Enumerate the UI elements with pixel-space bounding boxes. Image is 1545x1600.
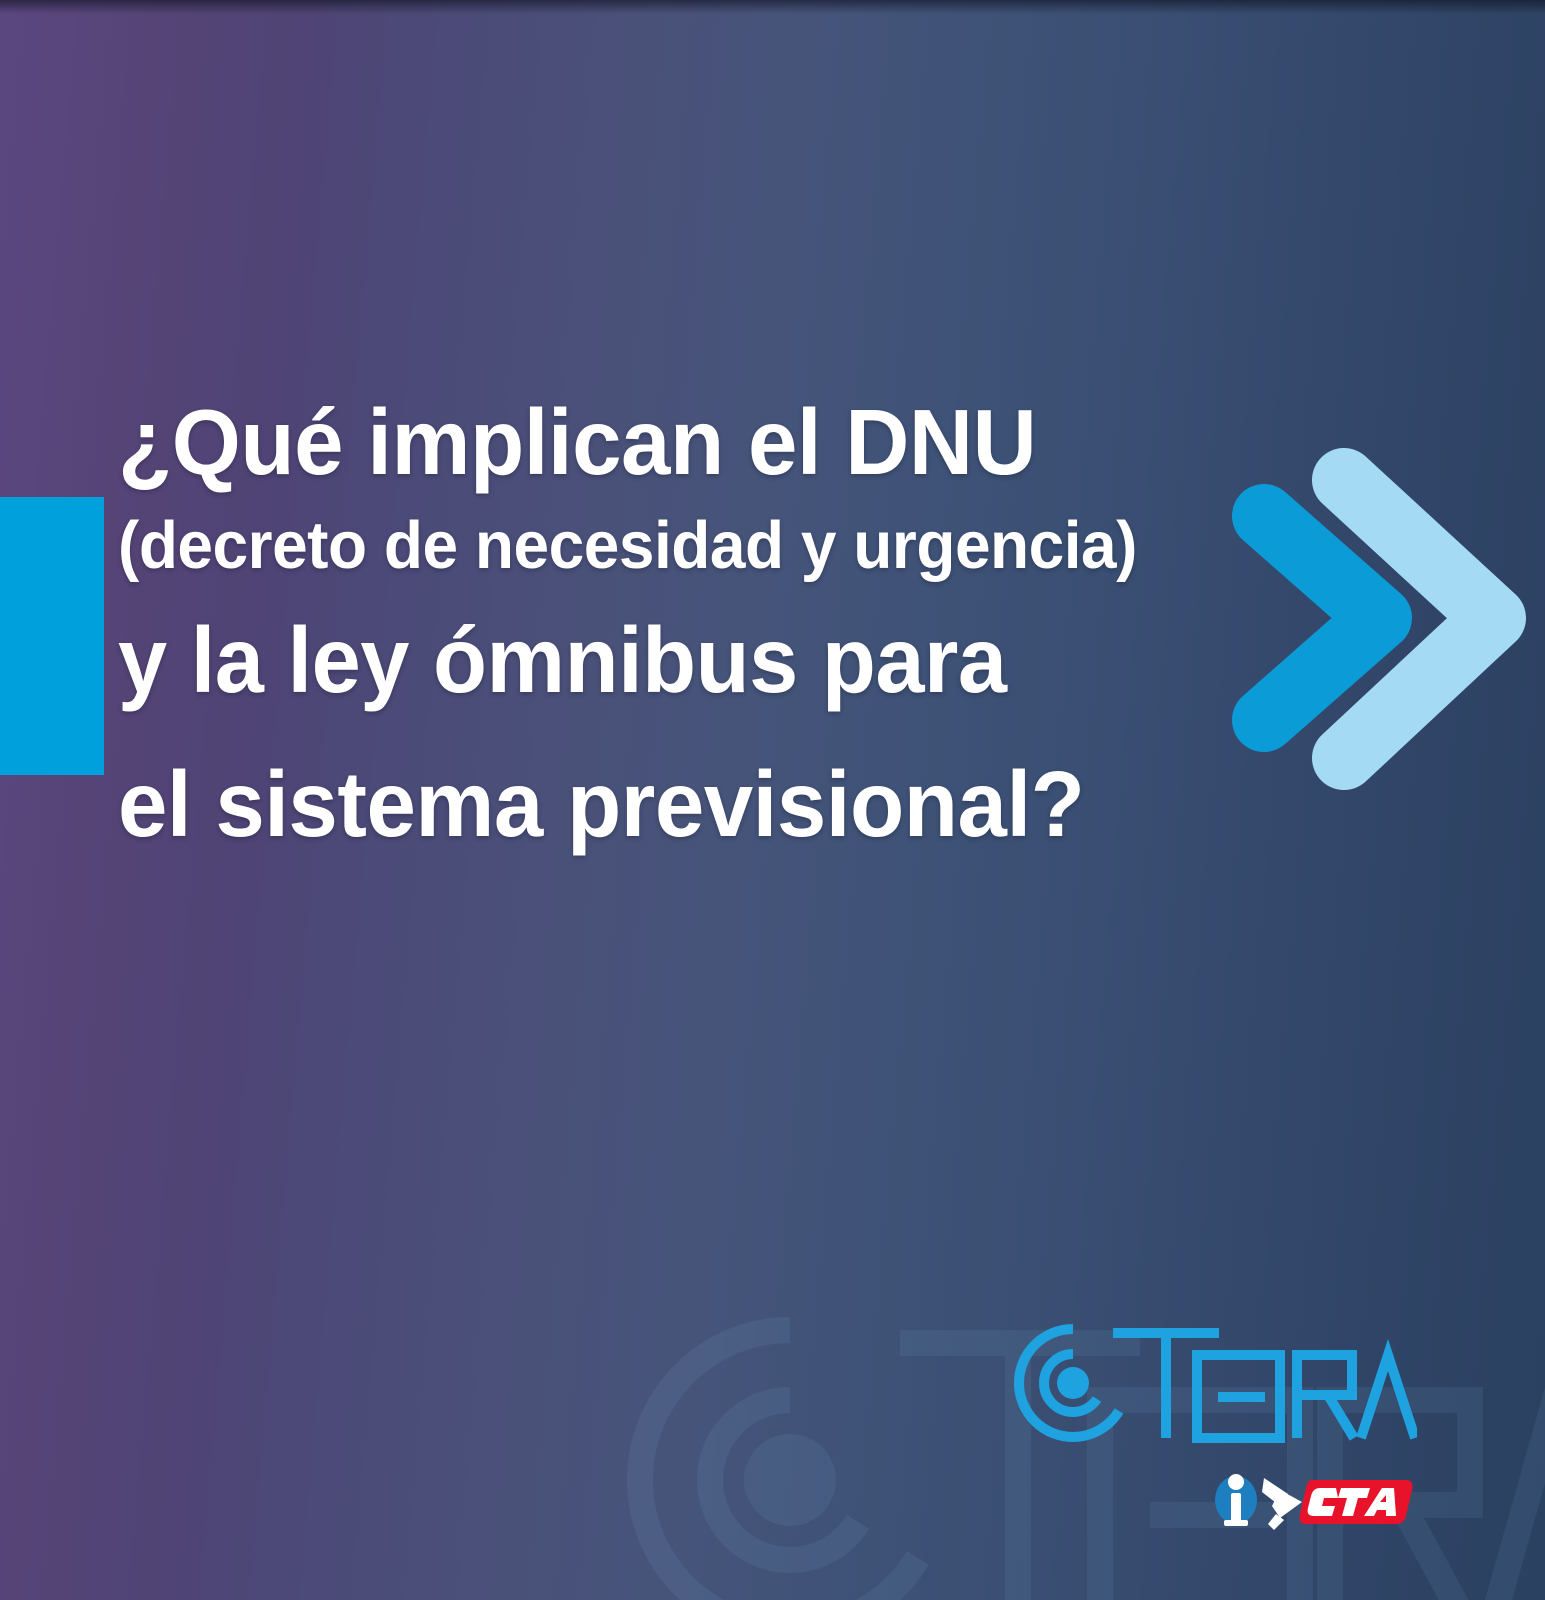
- cta-figure-icon: [1262, 1478, 1302, 1530]
- page-title: ¿Qué implican el DNU (decreto de necesid…: [118, 386, 1418, 862]
- cta-logo: [1210, 1462, 1415, 1540]
- headline-line-3: y la ley ómnibus para: [118, 602, 1353, 718]
- headline-line-2: (decreto de necesidad y urgencia): [118, 494, 1360, 598]
- headline-line-4: el sistema previsional?: [118, 746, 1360, 862]
- headline-line-1: ¿Qué implican el DNU: [118, 386, 1360, 498]
- ctera-logo: [997, 1307, 1417, 1459]
- poster-canvas: ¿Qué implican el DNU (decreto de necesid…: [0, 0, 1545, 1600]
- blue-accent-bar: [0, 497, 104, 775]
